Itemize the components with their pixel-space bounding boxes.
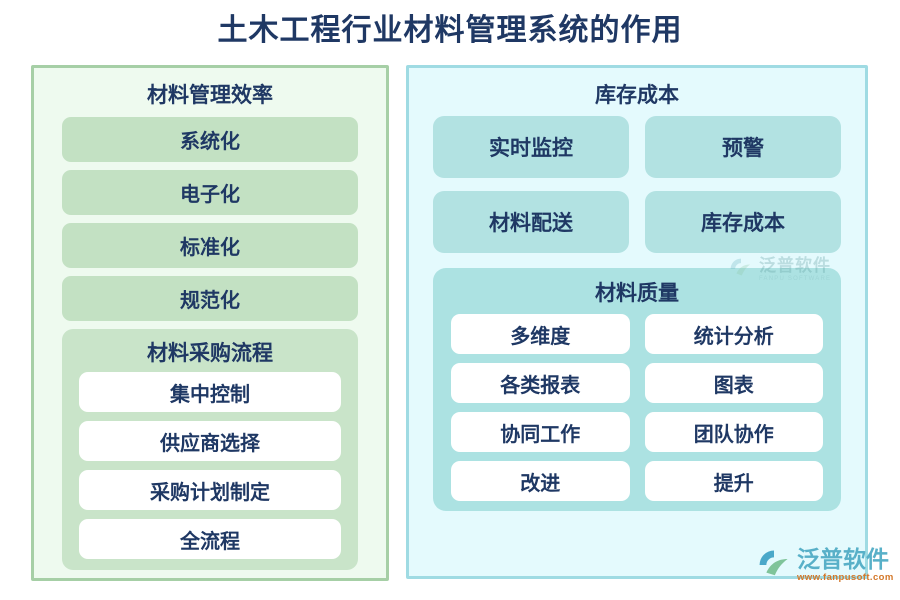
brand-logo: 泛普软件 www.fanpusoft.com bbox=[757, 548, 894, 583]
material-quality-item[interactable]: 改进 bbox=[451, 461, 630, 501]
right-panel: 库存成本 实时监控 预警 材料配送 库存成本 材料质量 多维度 统计分析 各类报… bbox=[406, 65, 868, 579]
material-quality-heading: 材料质量 bbox=[433, 270, 841, 314]
left-panel-item[interactable]: 电子化 bbox=[62, 170, 358, 215]
right-panel-item[interactable]: 实时监控 bbox=[433, 116, 629, 178]
material-quality-item-grid: 多维度 统计分析 各类报表 图表 协同工作 团队协作 改进 提升 bbox=[433, 314, 841, 501]
material-procurement-item-list: 集中控制 供应商选择 采购计划制定 全流程 bbox=[62, 372, 358, 559]
brand-logo-name: 泛普软件 bbox=[797, 548, 894, 571]
material-quality-item[interactable]: 提升 bbox=[645, 461, 824, 501]
left-panel-item[interactable]: 标准化 bbox=[62, 223, 358, 268]
material-quality-item[interactable]: 团队协作 bbox=[645, 412, 824, 452]
brand-logo-url: www.fanpusoft.com bbox=[797, 573, 894, 583]
material-quality-card: 材料质量 多维度 统计分析 各类报表 图表 协同工作 团队协作 改进 提升 bbox=[433, 268, 841, 511]
infographic-page: 土木工程行业材料管理系统的作用 材料管理效率 系统化 电子化 标准化 规范化 材… bbox=[0, 0, 900, 600]
right-panel-item-grid: 实时监控 预警 材料配送 库存成本 bbox=[409, 108, 865, 253]
right-panel-item[interactable]: 材料配送 bbox=[433, 191, 629, 253]
left-panel-heading: 材料管理效率 bbox=[34, 68, 386, 108]
right-panel-item[interactable]: 预警 bbox=[645, 116, 841, 178]
left-panel: 材料管理效率 系统化 电子化 标准化 规范化 材料采购流程 集中控制 供应商选择… bbox=[31, 65, 389, 581]
material-procurement-item[interactable]: 集中控制 bbox=[79, 372, 341, 412]
page-title: 土木工程行业材料管理系统的作用 bbox=[0, 10, 900, 52]
right-panel-heading: 库存成本 bbox=[409, 68, 865, 108]
left-panel-item[interactable]: 系统化 bbox=[62, 117, 358, 162]
material-procurement-card: 材料采购流程 集中控制 供应商选择 采购计划制定 全流程 bbox=[62, 329, 358, 570]
fanpu-logo-icon bbox=[757, 548, 791, 582]
right-panel-item[interactable]: 库存成本 bbox=[645, 191, 841, 253]
material-procurement-item[interactable]: 供应商选择 bbox=[79, 421, 341, 461]
left-panel-item-list: 系统化 电子化 标准化 规范化 bbox=[34, 108, 386, 321]
material-procurement-heading: 材料采购流程 bbox=[62, 331, 358, 372]
material-quality-item[interactable]: 统计分析 bbox=[645, 314, 824, 354]
brand-logo-text: 泛普软件 www.fanpusoft.com bbox=[797, 548, 894, 583]
material-quality-item[interactable]: 协同工作 bbox=[451, 412, 630, 452]
material-quality-item[interactable]: 各类报表 bbox=[451, 363, 630, 403]
left-panel-item[interactable]: 规范化 bbox=[62, 276, 358, 321]
material-quality-item[interactable]: 图表 bbox=[645, 363, 824, 403]
material-procurement-item[interactable]: 采购计划制定 bbox=[79, 470, 341, 510]
material-procurement-item[interactable]: 全流程 bbox=[79, 519, 341, 559]
material-quality-item[interactable]: 多维度 bbox=[451, 314, 630, 354]
